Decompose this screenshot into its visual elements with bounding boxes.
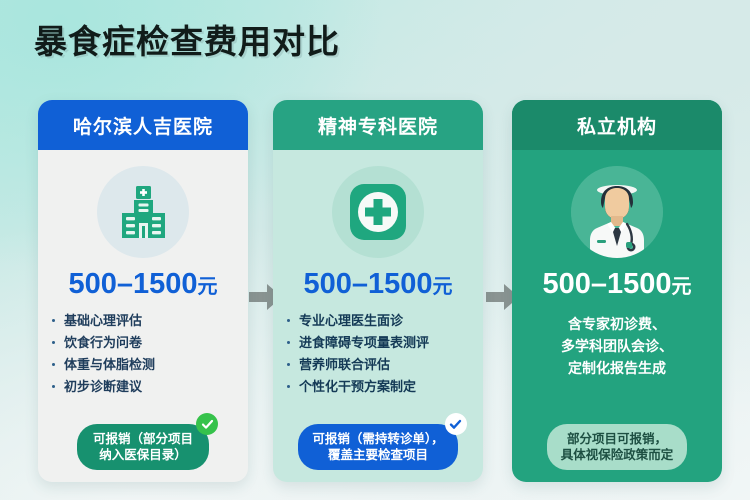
card-body: 500–1500元 基础心理评估 饮食行为问卷 体重与体脂检测 初步诊断建议 可… (38, 150, 248, 482)
price-unit: 元 (198, 276, 218, 298)
list-item: 营养师联合评估 (299, 355, 483, 374)
price-range: 500–1500 (68, 268, 197, 300)
card-header-title: 私立机构 (512, 100, 722, 150)
bullet-dot-icon (52, 341, 55, 344)
badge-container: 可报销（部分项目 纳入医保目录） (38, 424, 248, 470)
price-range: 500–1500 (542, 268, 671, 300)
card-header-title: 精神专科医院 (273, 100, 483, 150)
comparison-cards: 哈尔滨人吉医院 (0, 100, 750, 490)
badge-line-1: 可报销（部分项目 (91, 431, 195, 447)
bullet-dot-icon (52, 363, 55, 366)
bullet-dot-icon (52, 319, 55, 322)
bullet-dot-icon (52, 385, 55, 388)
card-psychiatric-hospital[interactable]: 精神专科医院 500–1500元 专业心理医生面诊 进食障碍专项量表测评 营养师… (273, 100, 483, 482)
list-item-label: 营养师联合评估 (299, 357, 390, 372)
badge-line-1: 可报销（需持转诊单）， (312, 431, 443, 447)
card-private-institution[interactable]: 私立机构 (512, 100, 722, 482)
list-item: 体重与体脂检测 (64, 355, 248, 374)
list-item-label: 基础心理评估 (64, 313, 142, 328)
card-body: 500–1500元 专业心理医生面诊 进食障碍专项量表测评 营养师联合评估 个性… (273, 150, 483, 482)
badge-line-2: 纳入医保目录） (91, 447, 195, 463)
price-value: 500–1500元 (68, 270, 217, 299)
bullet-dot-icon (287, 385, 290, 388)
price-unit: 元 (433, 276, 453, 298)
feature-list: 专业心理医生面诊 进食障碍专项量表测评 营养师联合评估 个性化干预方案制定 (273, 311, 483, 399)
list-item: 专业心理医生面诊 (299, 311, 483, 330)
doctor-avatar-icon (571, 166, 663, 258)
list-item-label: 体重与体脂检测 (64, 357, 155, 372)
medical-cross-icon (332, 166, 424, 258)
bullet-dot-icon (287, 363, 290, 366)
description-line-1: 含专家初诊费、 (561, 313, 673, 335)
list-item-label: 饮食行为问卷 (64, 335, 142, 350)
check-circle-icon (445, 413, 467, 435)
description-line-2: 多学科团队会诊、 (561, 335, 673, 357)
badge-container: 可报销（需持转诊单）， 覆盖主要检查项目 (273, 424, 483, 470)
page-title: 暴食症检查费用对比 (34, 22, 340, 62)
card-body: 500–1500元 含专家初诊费、 多学科团队会诊、 定制化报告生成 部分项目可… (512, 150, 722, 482)
bullet-dot-icon (287, 341, 290, 344)
bullet-dot-icon (287, 319, 290, 322)
card-public-hospital[interactable]: 哈尔滨人吉医院 (38, 100, 248, 482)
list-item-label: 进食障碍专项量表测评 (299, 335, 429, 350)
list-item: 基础心理评估 (64, 311, 248, 330)
infographic-canvas: 暴食症检查费用对比 哈尔滨人吉医院 (0, 0, 750, 500)
badge-container: 部分项目可报销， 具体视保险政策而定 (512, 424, 722, 470)
list-item: 个性化干预方案制定 (299, 377, 483, 396)
card-header-title: 哈尔滨人吉医院 (38, 100, 248, 150)
feature-description: 含专家初诊费、 多学科团队会诊、 定制化报告生成 (561, 313, 673, 379)
reimbursement-badge[interactable]: 可报销（部分项目 纳入医保目录） (77, 424, 209, 470)
price-value: 500–1500元 (303, 270, 452, 299)
check-circle-icon (196, 413, 218, 435)
badge-line-2: 覆盖主要检查项目 (312, 447, 443, 463)
badge-line-1: 部分项目可报销， (561, 431, 674, 447)
hospital-building-icon (97, 166, 189, 258)
list-item: 饮食行为问卷 (64, 333, 248, 352)
list-item: 进食障碍专项量表测评 (299, 333, 483, 352)
reimbursement-badge[interactable]: 可报销（需持转诊单）， 覆盖主要检查项目 (298, 424, 457, 470)
feature-list: 基础心理评估 饮食行为问卷 体重与体脂检测 初步诊断建议 (38, 311, 248, 399)
reimbursement-badge[interactable]: 部分项目可报销， 具体视保险政策而定 (547, 424, 688, 470)
badge-line-2: 具体视保险政策而定 (561, 447, 674, 463)
list-item-label: 个性化干预方案制定 (299, 379, 416, 394)
price-value: 500–1500元 (542, 270, 691, 299)
description-line-3: 定制化报告生成 (561, 357, 673, 379)
price-range: 500–1500 (303, 268, 432, 300)
list-item: 初步诊断建议 (64, 377, 248, 396)
list-item-label: 初步诊断建议 (64, 379, 142, 394)
price-unit: 元 (672, 276, 692, 298)
list-item-label: 专业心理医生面诊 (299, 313, 403, 328)
